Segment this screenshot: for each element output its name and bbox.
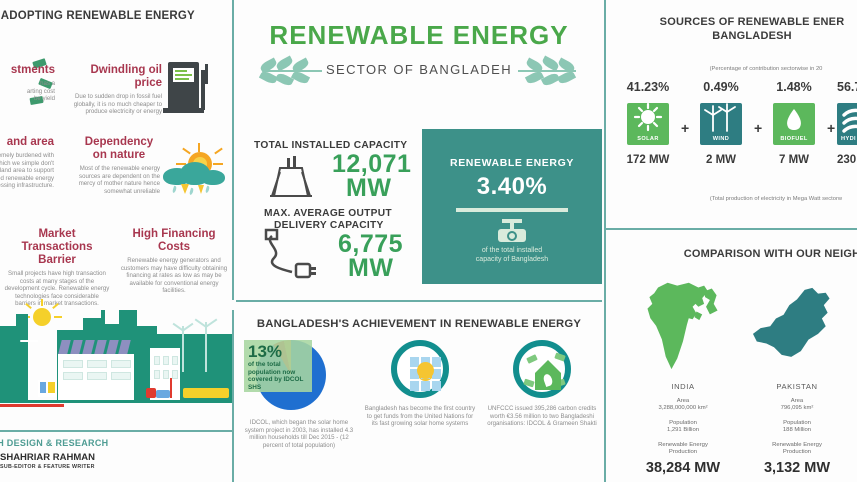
source-item-biofuel: 1.48% BIOFUEL 7 MW (764, 80, 824, 166)
right-panel: SOURCES OF RENEWABLE ENER BANGLADESH (Pe… (606, 0, 857, 482)
area-label-pakistan: Area (736, 398, 857, 405)
credits-subtitle: SUB-EDITOR & FEATURE WRITER (0, 464, 232, 470)
achievements-title: BANGLADESH'S ACHIEVEMENT IN RENEWABLE EN… (236, 318, 602, 330)
green-house-money-icon (513, 340, 571, 398)
achievement-text-2: Bangladesh has become the first country … (364, 405, 476, 428)
population-label-pakistan: Population (736, 420, 857, 427)
card-high-financing-costs: High Financing Costs Renewable energy ge… (120, 228, 228, 295)
india-map-icon (635, 272, 731, 376)
center-panel: RENEWABLE ENERGY SECTOR OF BANGLADEH TOT… (236, 0, 602, 482)
renewable-percentage-box: RENEWABLE ENERGY 3.40% of the total inst… (422, 129, 602, 284)
achievement-item-3: UNFCCC issued 395,286 carbon credits wor… (486, 340, 598, 428)
achievement-item-1: IDCOL, which began the solar home system… (241, 412, 357, 449)
source-name-wind: WIND (700, 136, 742, 142)
sources-note-bottom: (Total production of electricity in Mega… (646, 196, 857, 202)
source-percent-hydro: 56.7 (837, 80, 857, 94)
renewable-box-note-line1: of the total installed (422, 246, 602, 255)
left-panel: VE ADOPTING RENEWABLE ENERGY stments has… (0, 0, 232, 482)
population-label-india: Population (622, 420, 744, 427)
output-capacity-label-line1: MAX. AVERAGE OUTPUT (264, 208, 392, 219)
population-value-pakistan: 188 Million (736, 427, 857, 434)
population-coverage-badge: 13% of the total population now covered … (244, 340, 312, 392)
solar-panel-icon (391, 340, 449, 398)
population-value-india: 1,291 Billion (622, 427, 744, 434)
plus-sign-2: + (754, 120, 762, 136)
green-city-illustration (0, 296, 232, 416)
divider-left-top (232, 0, 234, 300)
card-limited-land-area: and area adesh is extremely burdened wit… (0, 136, 54, 190)
water-waves-icon: HYDI (837, 103, 857, 145)
production-label-pakistan-l1: Renewable Energy (736, 442, 857, 449)
production-label-india-l1: Renewable Energy (622, 442, 744, 449)
plus-sign-3: + (827, 120, 835, 136)
divider-left-bottom (232, 310, 234, 482)
sun-icon: SOLAR (627, 103, 669, 145)
flame-drop-icon: BIOFUEL (773, 103, 815, 145)
plus-sign-1: + (681, 120, 689, 136)
credits-block: GRAPH DESIGN & RESEARCH SHAHRIAR RAHMAN … (0, 438, 232, 470)
production-label-pakistan-l2: Production (736, 449, 857, 456)
renewable-box-percent: 3.40% (422, 173, 602, 201)
comparison-country-pakistan: PAKISTAN Area 796,095 km² Population 188… (736, 286, 857, 476)
coverage-percent: 13% (248, 343, 308, 360)
comparison-country-india: INDIA Area 3,288,000,000 km² Population … (622, 272, 744, 476)
source-name-solar: SOLAR (627, 136, 669, 142)
source-mw-biofuel: 7 MW (764, 154, 824, 166)
source-item-hydro: 56.7 HYDI 230 M (837, 80, 857, 166)
sources-note-top: (Percentage of contribution sectorwise i… (636, 66, 857, 72)
card-dependency-on-nature: Dependency on nature Most of the renewab… (78, 136, 160, 195)
renewable-box-note-line2: capacity of Bangladesh (422, 255, 602, 264)
wind-turbine-icon: WIND (700, 103, 742, 145)
source-percent-wind: 0.49% (691, 80, 751, 94)
sources-title-line1: SOURCES OF RENEWABLE ENER (660, 16, 845, 28)
renewable-box-label: RENEWABLE ENERGY (422, 157, 602, 169)
production-label-india-l2: Production (622, 449, 744, 456)
output-capacity-unit: MW (348, 256, 428, 280)
area-value-pakistan: 796,095 km² (736, 405, 857, 412)
area-value-india: 3,288,000,000 km² (622, 405, 744, 412)
credits-role: GRAPH DESIGN & RESEARCH (0, 438, 232, 448)
renewable-box-divider (456, 208, 568, 212)
card-high-investments: stments has a arting cost be yield (0, 64, 55, 103)
source-item-wind: 0.49% WIND 2 MW (691, 80, 751, 166)
left-panel-heading: VE ADOPTING RENEWABLE ENERGY (0, 10, 230, 22)
source-item-solar: 41.23% SOLAR 172 (618, 80, 678, 166)
country-name-india: INDIA (622, 382, 744, 391)
comparison-title: COMPARISON WITH OUR NEIGH (642, 248, 857, 260)
production-value-india: 38,284 MW (622, 460, 744, 476)
achievement-item-2: Bangladesh has become the first country … (364, 340, 476, 428)
sources-title-line2: BANGLADESH (712, 30, 792, 42)
achievement-text-1: IDCOL, which began the solar home system… (241, 419, 357, 449)
card-dwindling-oil-price: Dwindling oil price Due to sudden drop i… (62, 64, 162, 116)
total-capacity-unit: MW (346, 176, 426, 200)
source-mw-wind: 2 MW (691, 154, 751, 166)
source-name-biofuel: BIOFUEL (773, 136, 815, 142)
output-capacity-value: 6,775 (338, 232, 418, 256)
source-percent-biofuel: 1.48% (764, 80, 824, 94)
country-name-pakistan: PAKISTAN (736, 382, 857, 391)
coverage-text: of the total population now covered by I… (248, 361, 308, 391)
pakistan-map-icon (749, 286, 845, 376)
total-capacity-value: 12,071 (332, 152, 412, 176)
source-mw-solar: 172 MW (618, 154, 678, 166)
source-percent-solar: 41.23% (618, 80, 678, 94)
laurel-right-icon (512, 56, 582, 86)
production-value-pakistan: 3,132 MW (736, 460, 857, 476)
laurel-left-icon (258, 56, 328, 86)
credits-name: SHAHRIAR RAHMAN (0, 452, 232, 463)
source-name-hydro: HYDI (837, 136, 857, 142)
achievement-text-3: UNFCCC issued 395,286 carbon credits wor… (486, 405, 598, 428)
page-title: RENEWABLE ENERGY (236, 20, 602, 51)
infographic-page: VE ADOPTING RENEWABLE ENERGY stments has… (0, 0, 857, 482)
area-label-india: Area (622, 398, 744, 405)
source-mw-hydro: 230 M (837, 154, 857, 166)
sources-title: SOURCES OF RENEWABLE ENER BANGLADESH (622, 15, 857, 43)
